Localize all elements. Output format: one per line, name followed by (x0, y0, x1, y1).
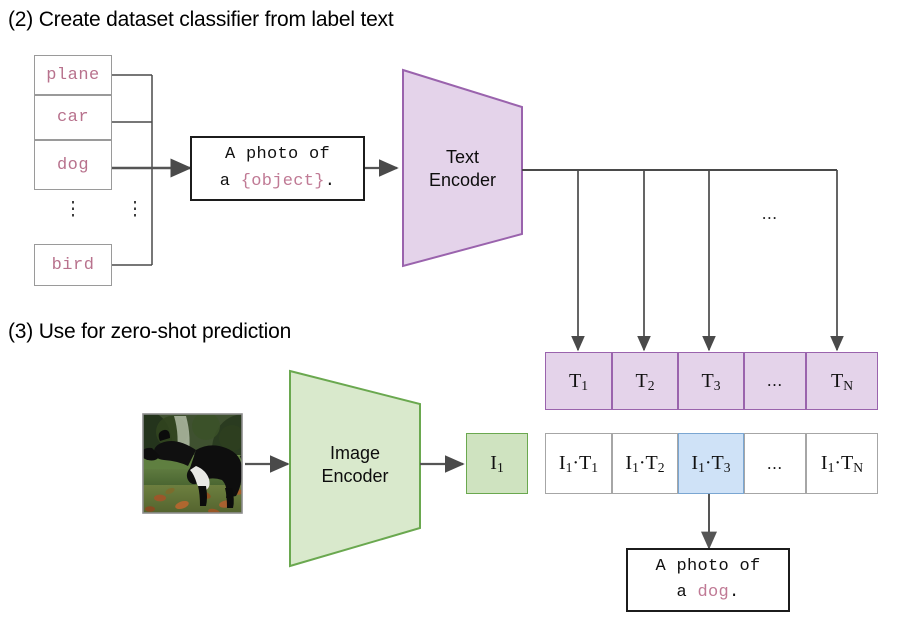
label-box-car[interactable]: car (34, 95, 112, 140)
text-bus-ellipsis: ... (762, 204, 778, 224)
image-embedding-cell[interactable]: I1 (466, 433, 528, 494)
text-embedding-cell-3[interactable]: T3 (678, 352, 744, 410)
similarity-cell-n[interactable]: I1·TN (806, 433, 878, 494)
cell-label: I1·T2 (625, 452, 664, 475)
prompt-object-slot: {object} (241, 172, 325, 191)
text-embedding-cell-n[interactable]: TN (806, 352, 878, 410)
cell-label: I1 (490, 452, 503, 475)
text-embedding-cell-1[interactable]: T1 (545, 352, 612, 410)
diagram-vector-layer (0, 0, 906, 624)
similarity-cell-3-highlighted[interactable]: I1·T3 (678, 433, 744, 494)
prediction-object-slot: dog (697, 583, 729, 602)
prompt-template-box[interactable]: A photo of a {object}. (190, 136, 365, 201)
similarity-cell-2[interactable]: I1·T2 (612, 433, 678, 494)
similarity-cell-ellipsis: ... (744, 433, 806, 494)
dog-photo-art (142, 412, 253, 516)
prompt-line-2-suffix: . (325, 172, 336, 191)
text-embedding-cell-2[interactable]: T2 (612, 352, 678, 410)
clip-zero-shot-figure: (2) Create dataset classifier from label… (0, 0, 906, 624)
cell-label: TN (831, 370, 853, 393)
prompt-line-1: A photo of (225, 142, 330, 168)
prediction-box[interactable]: A photo of a dog. (626, 548, 790, 612)
prompt-line-2-prefix: a (220, 172, 241, 191)
prediction-line-1: A photo of (655, 554, 760, 580)
text-encoder-line-1: Text (403, 146, 522, 169)
similarity-cell-1[interactable]: I1·T1 (545, 433, 612, 494)
cell-label: T2 (635, 370, 654, 393)
text-embedding-cell-ellipsis: ... (744, 352, 806, 410)
label-text: dog (57, 156, 89, 175)
cell-label: ... (767, 371, 783, 391)
text-encoder-line-2: Encoder (403, 169, 522, 192)
section-2-title: (2) Create dataset classifier from label… (8, 8, 394, 32)
cell-label: I1·T1 (559, 452, 598, 475)
cell-label: I1·TN (821, 452, 863, 475)
prediction-line-2-prefix: a (676, 583, 697, 602)
label-box-plane[interactable]: plane (34, 55, 112, 95)
text-encoder-node[interactable]: Text Encoder (403, 146, 522, 191)
label-box-bird[interactable]: bird (34, 244, 112, 286)
label-text: plane (46, 66, 100, 85)
image-encoder-line-2: Encoder (290, 465, 420, 488)
image-encoder-label: Image Encoder (290, 442, 420, 487)
prediction-line-2-suffix: . (729, 583, 740, 602)
prediction-line-2: a dog. (676, 580, 739, 606)
label-text: bird (52, 256, 95, 275)
cell-label: T1 (569, 370, 588, 393)
label-text: car (57, 108, 89, 127)
label-list-ellipsis-left: ⋮ (60, 200, 86, 219)
section-3-title: (3) Use for zero-shot prediction (8, 320, 291, 344)
label-list-ellipsis-right: ⋮ (122, 200, 148, 219)
image-encoder-node[interactable]: Image Encoder (290, 442, 420, 487)
cell-label: I1·T3 (691, 452, 730, 475)
cell-label: T3 (701, 370, 720, 393)
cell-label: ... (767, 454, 783, 474)
text-encoder-label: Text Encoder (403, 146, 522, 191)
prompt-line-2: a {object}. (220, 169, 336, 195)
image-encoder-line-1: Image (290, 442, 420, 465)
label-box-dog[interactable]: dog (34, 140, 112, 190)
